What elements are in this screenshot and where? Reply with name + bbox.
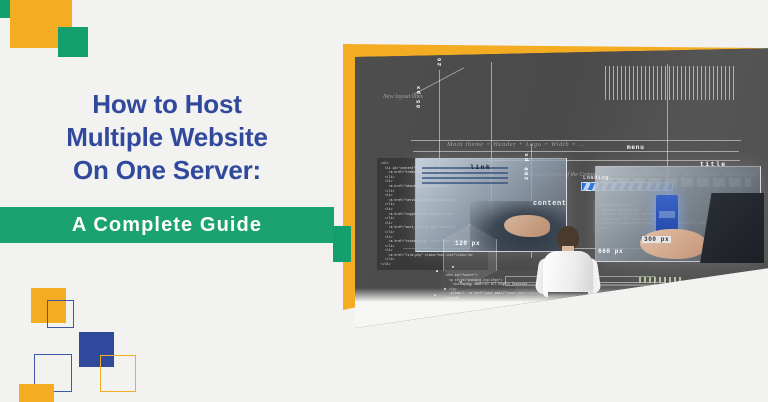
panel-left-bars: [422, 167, 508, 185]
green-square-top-left-overlap: [58, 27, 88, 57]
label-link: link: [470, 164, 491, 171]
barcode-texture: [605, 66, 737, 100]
yellow-outline-square-bottom-2: [100, 355, 136, 392]
subtitle-text: A Complete Guide: [0, 207, 334, 243]
handwriting-equation: Main theme = Header + Logo = Width = ...: [447, 141, 585, 149]
label-loading: Loading...: [583, 174, 620, 181]
label-title: title: [700, 161, 727, 168]
headline-line-2: Multiple Website: [0, 121, 334, 154]
label-mark-top: 26: [436, 57, 443, 66]
blue-outline-square-bottom-1: [47, 300, 74, 328]
headline-line-1: How to Host: [0, 88, 334, 121]
hero-illustration: New layout lines Main theme = Header + L…: [333, 30, 768, 340]
label-height-left: 85 px: [415, 84, 422, 108]
businessman-figure: [535, 226, 601, 328]
label-height-panel: 200 px: [523, 152, 530, 180]
label-width-right: 660 px: [598, 248, 623, 255]
suit-sleeve: [700, 193, 764, 263]
label-width-left: 120 px: [455, 240, 480, 247]
guide-line-horizontal-2: [413, 151, 739, 152]
label-width-panel: 300 px: [642, 236, 671, 243]
yellow-square-bottom-3: [19, 384, 54, 402]
page-title: How to Host Multiple Website On One Serv…: [0, 88, 334, 187]
subtitle-band: A Complete Guide: [0, 207, 334, 243]
headline-line-3: On One Server:: [0, 154, 334, 187]
banner-root: How to Host Multiple Website On One Serv…: [0, 0, 768, 402]
green-square-accent-left: [333, 226, 351, 262]
footer-dot-field: [639, 277, 683, 283]
label-menu: menu: [627, 144, 645, 151]
floor-gradient: [355, 288, 768, 328]
presentation-wall: New layout lines Main theme = Header + L…: [355, 48, 768, 328]
hand-holding-phone: [640, 229, 706, 259]
label-content: content: [533, 200, 567, 208]
